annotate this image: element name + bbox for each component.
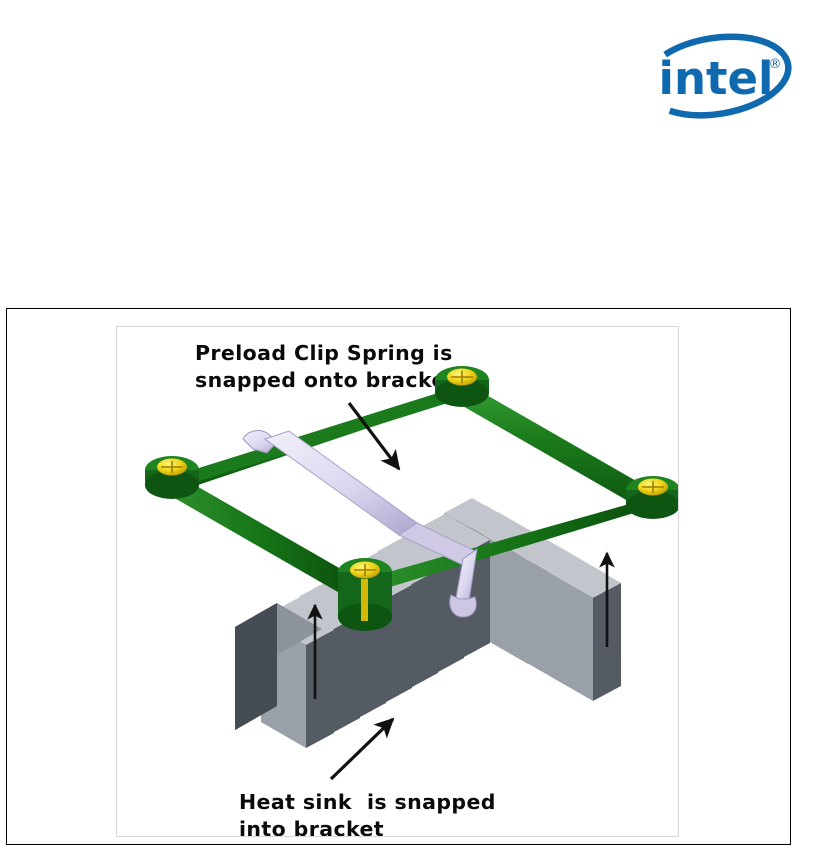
intel-logo: intel ® [636, 24, 796, 124]
registered-trademark-symbol: ® [769, 57, 782, 72]
push-pin-rear [435, 366, 489, 407]
push-pin-shaft-front [361, 579, 368, 621]
push-pin-left [145, 456, 199, 499]
intel-wordmark: intel [659, 52, 774, 105]
heat-sink-assembly-illustration [117, 327, 679, 837]
illustration-panel: Preload Clip Spring is snapped onto brac… [116, 326, 679, 837]
push-pin-right [626, 476, 679, 519]
figure-frame: Preload Clip Spring is snapped onto brac… [6, 308, 791, 845]
push-pin-front [338, 558, 392, 631]
